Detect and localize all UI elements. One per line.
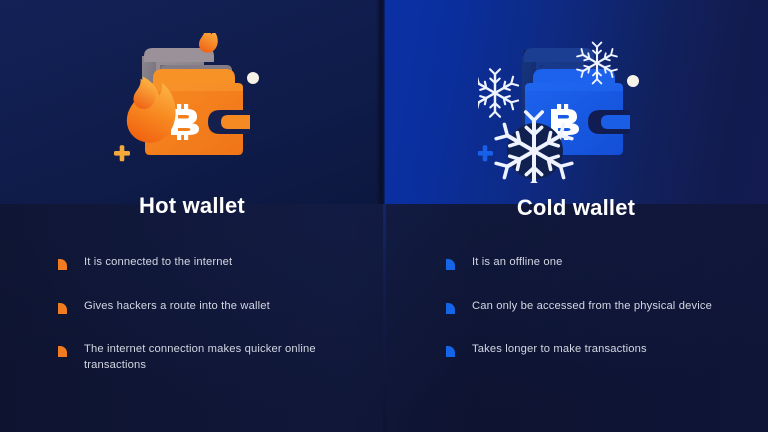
list-item: Can only be accessed from the physical d… — [446, 299, 756, 315]
hot-wallet-illustration — [98, 33, 278, 183]
dot-accent — [247, 72, 259, 84]
cold-wallet-title: Cold wallet — [384, 195, 768, 221]
list-item-label: Can only be accessed from the physical d… — [472, 299, 712, 315]
hot-wallet-bullet-list: It is connected to the internet Gives ha… — [58, 255, 378, 373]
bullet-marker-icon — [446, 259, 455, 270]
wallet-clasp-icon — [588, 110, 630, 134]
bullet-marker-icon — [58, 259, 67, 270]
bullet-marker-icon — [58, 346, 67, 357]
cold-wallet-illustration — [478, 33, 658, 183]
list-item: It is connected to the internet — [58, 255, 378, 271]
flame-small-top-icon — [199, 33, 218, 53]
list-item: The internet connection makes quicker on… — [58, 342, 378, 373]
list-item: Takes longer to make transactions — [446, 342, 756, 358]
list-item-label: Gives hackers a route into the wallet — [84, 299, 270, 315]
list-item-label: It is an offline one — [472, 255, 563, 271]
list-item-label: It is connected to the internet — [84, 255, 232, 271]
plus-sparkle-icon — [114, 145, 130, 161]
bullet-marker-icon — [446, 303, 455, 314]
list-item: Gives hackers a route into the wallet — [58, 299, 378, 315]
hot-wallet-title: Hot wallet — [0, 193, 384, 219]
list-item: It is an offline one — [446, 255, 756, 271]
bullet-marker-icon — [446, 346, 455, 357]
cold-wallet-bullet-list: It is an offline one Can only be accesse… — [446, 255, 756, 358]
list-item-label: The internet connection makes quicker on… — [84, 342, 378, 373]
list-item-label: Takes longer to make transactions — [472, 342, 647, 358]
comparison-slide: Hot wallet Cold wallet It is connected t… — [0, 0, 768, 432]
bullet-marker-icon — [58, 303, 67, 314]
snowflake-left-icon — [478, 69, 518, 117]
wallet-clasp-icon — [208, 110, 250, 134]
plus-sparkle-icon — [478, 145, 493, 161]
dot-accent — [627, 75, 639, 87]
panel-seam-shadow — [376, 0, 385, 204]
